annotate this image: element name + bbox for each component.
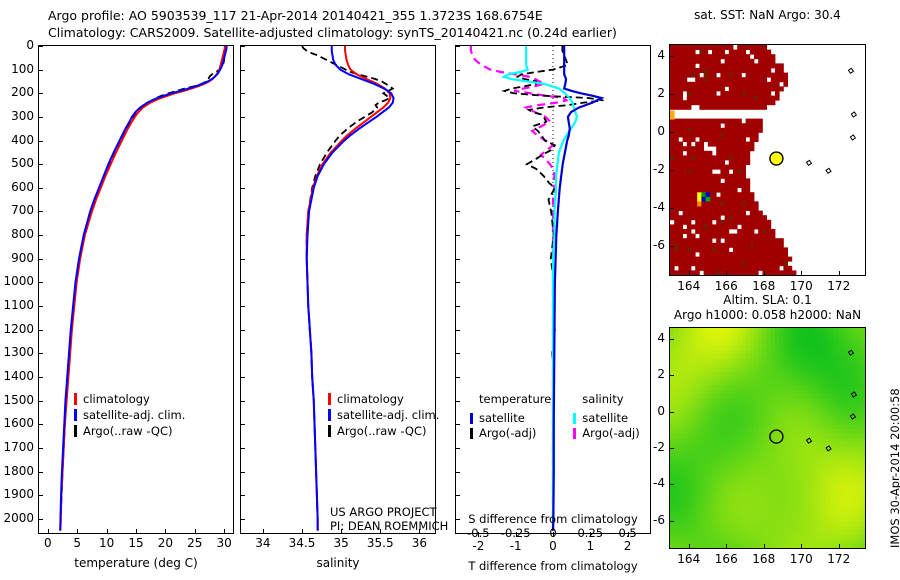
sst-cell (687, 192, 692, 197)
sla-cell (775, 328, 780, 333)
sla-cell (863, 398, 865, 403)
sst-cell (737, 151, 742, 156)
sst-cell (716, 206, 721, 211)
sla-cell (695, 442, 700, 447)
sla-cell (746, 332, 751, 337)
sla-cell (754, 368, 759, 373)
panel-temperature (38, 45, 234, 534)
coastline-fragment (848, 68, 853, 73)
sla-cell (741, 337, 746, 342)
sla-cell (783, 469, 788, 474)
sla-cell (817, 337, 822, 342)
sla-cell (817, 513, 822, 518)
sla-cell (704, 544, 709, 548)
sla-cell (737, 464, 742, 469)
sla-cell (754, 442, 759, 447)
sla-cell (838, 359, 843, 364)
sst-cell (737, 123, 742, 128)
sla-cell (846, 451, 851, 456)
sla-cell (830, 535, 835, 540)
latitude-tick-label: 4 (633, 331, 665, 345)
sla-cell (737, 473, 742, 478)
sla-cell (830, 372, 835, 377)
sst-cell (733, 165, 738, 170)
sla-cell (771, 412, 776, 417)
latitude-tick-label: -6 (633, 513, 665, 527)
sst-cell (699, 82, 704, 87)
sla-cell (804, 425, 809, 430)
sst-cell (767, 86, 772, 91)
sla-cell (846, 486, 851, 491)
sst-cell (725, 96, 730, 101)
sla-cell (809, 460, 814, 465)
sla-cell (817, 434, 822, 439)
sla-cell (704, 473, 709, 478)
sla-cell (859, 447, 864, 452)
sla-cell (859, 526, 864, 531)
sst-cell (678, 201, 683, 206)
sla-cell (670, 460, 675, 465)
sla-cell (788, 447, 793, 452)
sst-cell (704, 266, 709, 271)
sla-cell (687, 530, 692, 535)
sla-cell (691, 500, 696, 505)
sla-cell (762, 398, 767, 403)
sst-cell (737, 183, 742, 188)
sla-cell (767, 403, 772, 408)
sst-cell (687, 206, 692, 211)
sla-cell (796, 517, 801, 522)
sst-cell (737, 165, 742, 170)
sst-cell (704, 178, 709, 183)
sst-cell (683, 59, 688, 64)
sla-cell (683, 403, 688, 408)
sla-cell (821, 354, 826, 359)
sla-cell (825, 337, 830, 342)
sla-cell (767, 394, 772, 399)
sst-cell (741, 137, 746, 142)
sla-cell (821, 425, 826, 430)
sla-cell (674, 504, 679, 509)
sla-cell (800, 451, 805, 456)
sla-cell (712, 341, 717, 346)
sla-cell (775, 464, 780, 469)
sst-cell (691, 68, 696, 73)
sst-cell (674, 59, 679, 64)
sst-cell (695, 100, 700, 105)
sst-cell (704, 224, 709, 229)
sst-cell (737, 243, 742, 248)
sst-cell (746, 119, 751, 124)
sst-cell (758, 82, 763, 87)
sla-cell (678, 363, 683, 368)
sla-cell (691, 464, 696, 469)
sla-cell (750, 390, 755, 395)
sla-cell (708, 482, 713, 487)
sst-cell (683, 197, 688, 202)
depth-tick-mark (38, 117, 43, 118)
sla-cell (855, 504, 860, 509)
sla-cell (670, 500, 675, 505)
sst-cell (737, 77, 742, 82)
sst-anomaly-cell (701, 202, 706, 207)
sla-cell (821, 517, 826, 522)
sla-cell (720, 425, 725, 430)
legend-group-title: temperature (470, 392, 551, 407)
sst-cell (670, 229, 675, 234)
sla-cell (809, 328, 814, 333)
sla-cell (758, 407, 763, 412)
sst-cell (758, 100, 763, 105)
sst-cell (758, 211, 763, 216)
sla-cell (788, 425, 793, 430)
sst-cell (712, 197, 717, 202)
sla-cell (804, 508, 809, 513)
sla-cell (720, 416, 725, 421)
sla-cell (855, 394, 860, 399)
sla-cell (779, 398, 784, 403)
sla-cell (729, 539, 734, 544)
sst-cell (695, 160, 700, 165)
sst-cell (741, 192, 746, 197)
sst-cell (746, 188, 751, 193)
sla-cell (775, 368, 780, 373)
sla-cell (800, 456, 805, 461)
sla-cell (758, 478, 763, 483)
sla-cell (741, 473, 746, 478)
sst-cell (771, 247, 776, 252)
sla-cell (704, 478, 709, 483)
sla-cell (716, 354, 721, 359)
sla-cell (804, 412, 809, 417)
sla-cell (842, 425, 847, 430)
sla-cell (741, 372, 746, 377)
sla-cell (788, 495, 793, 500)
sla-cell (863, 350, 865, 355)
sst-cell (741, 169, 746, 174)
sla-cell (842, 526, 847, 531)
sst-cell (683, 206, 688, 211)
sla-cell (699, 482, 704, 487)
sst-cell (746, 201, 751, 206)
sst-cell (683, 188, 688, 193)
sla-cell (830, 368, 835, 373)
sla-cell (783, 456, 788, 461)
sst-cell (687, 188, 692, 193)
sla-cell (775, 381, 780, 386)
sla-cell (725, 425, 730, 430)
sst-cell (716, 54, 721, 59)
sla-cell (708, 332, 713, 337)
sla-cell (775, 341, 780, 346)
sla-cell (674, 332, 679, 337)
sst-cell (695, 229, 700, 234)
sla-cell (691, 513, 696, 518)
sst-cell (729, 137, 734, 142)
sst-cell (746, 82, 751, 87)
sst-cell (746, 54, 751, 59)
sla-cell (767, 469, 772, 474)
sla-cell (758, 491, 763, 496)
sla-cell (762, 425, 767, 430)
sla-cell (851, 425, 856, 430)
sst-cell (758, 243, 763, 248)
depth-tick-label: 1300 (0, 345, 34, 359)
sla-cell (733, 442, 738, 447)
sst-cell (687, 86, 692, 91)
sla-cell (804, 473, 809, 478)
sla-cell (733, 359, 738, 364)
sst-cell (683, 119, 688, 124)
sla-cell (851, 500, 856, 505)
sla-cell (851, 517, 856, 522)
sst-cell (670, 73, 675, 78)
sla-cell (838, 530, 843, 535)
sla-cell (687, 517, 692, 522)
sla-cell (758, 385, 763, 390)
sla-cell (687, 522, 692, 527)
sla-cell (842, 438, 847, 443)
sla-cell (796, 354, 801, 359)
sst-cell (767, 261, 772, 266)
sla-cell (729, 530, 734, 535)
sst-cell (750, 238, 755, 243)
sst-cell (674, 215, 679, 220)
sla-cell (863, 526, 865, 531)
sst-cell (674, 82, 679, 87)
sla-cell (800, 332, 805, 337)
sla-cell (779, 491, 784, 496)
sla-cell (779, 517, 784, 522)
sla-cell (683, 517, 688, 522)
legend-swatch-icon (74, 425, 77, 437)
sla-cell (813, 535, 818, 540)
sla-cell (741, 420, 746, 425)
sla-cell (796, 416, 801, 421)
sla-cell (800, 359, 805, 364)
sla-cell (830, 346, 835, 351)
sst-cell (695, 165, 700, 170)
sla-cell (813, 500, 818, 505)
sla-cell (712, 438, 717, 443)
sla-cell (842, 482, 847, 487)
sla-cell (704, 359, 709, 364)
sst-cell (762, 54, 767, 59)
sla-cell (825, 385, 830, 390)
sla-cell (678, 434, 683, 439)
sla-cell (729, 390, 734, 395)
sst-cell (775, 270, 780, 275)
sla-cell (725, 341, 730, 346)
sst-cell (754, 215, 759, 220)
sst-cell (704, 105, 709, 110)
sla-cell (704, 425, 709, 430)
sla-cell (720, 407, 725, 412)
sla-cell (691, 456, 696, 461)
sst-cell (704, 151, 709, 156)
sst-cell (716, 151, 721, 156)
sla-cell (825, 354, 830, 359)
sla-cell (846, 478, 851, 483)
sst-cell (712, 119, 717, 124)
sst-cell (746, 266, 751, 271)
sla-cell (855, 398, 860, 403)
sla-cell (825, 438, 830, 443)
sla-cell (838, 337, 843, 342)
sla-cell (821, 482, 826, 487)
sla-cell (813, 420, 818, 425)
sla-cell (851, 482, 856, 487)
sst-cell (733, 151, 738, 156)
sla-cell (779, 539, 784, 544)
sla-cell (741, 464, 746, 469)
sla-cell (737, 522, 742, 527)
depth-tick-mark (240, 235, 245, 236)
sla-cell (695, 429, 700, 434)
sla-cell (741, 416, 746, 421)
legend-item: satellite-adj. clim. (328, 404, 439, 420)
sst-cell (687, 224, 692, 229)
sla-cell (695, 530, 700, 535)
sla-cell (737, 456, 742, 461)
sla-cell (834, 522, 839, 527)
sla-cell (678, 346, 683, 351)
sla-cell (783, 517, 788, 522)
sla-cell (712, 486, 717, 491)
sla-cell (842, 456, 847, 461)
sla-cell (687, 354, 692, 359)
sla-cell (716, 530, 721, 535)
sla-cell (678, 495, 683, 500)
sla-cell (762, 376, 767, 381)
sst-cell (720, 197, 725, 202)
sst-cell (716, 270, 721, 275)
sla-cell (834, 469, 839, 474)
sla-cell (863, 460, 865, 465)
sla-cell (729, 425, 734, 430)
sla-cell (830, 544, 835, 548)
sla-cell (788, 464, 793, 469)
sla-cell (741, 460, 746, 465)
sla-cell (758, 451, 763, 456)
sla-cell (821, 429, 826, 434)
sla-cell (775, 500, 780, 505)
sla-cell (813, 425, 818, 430)
sla-cell (825, 332, 830, 337)
depth-tick-mark (38, 282, 43, 283)
depth-tick-mark (38, 401, 43, 402)
sst-cell (754, 247, 759, 252)
sst-cell (754, 201, 759, 206)
sla-cell (779, 403, 784, 408)
sla-cell (733, 350, 738, 355)
sla-cell (750, 513, 755, 518)
sst-cell (704, 82, 709, 87)
sst-cell (729, 183, 734, 188)
sla-cell (851, 544, 856, 548)
sst-cell (691, 45, 696, 50)
sla-cell (813, 328, 818, 333)
sla-cell (834, 407, 839, 412)
sla-cell (746, 535, 751, 540)
sla-cell (792, 420, 797, 425)
depth-tick-mark (240, 46, 245, 47)
sla-cell (775, 522, 780, 527)
sst-cell (670, 201, 675, 206)
sla-cell (725, 482, 730, 487)
sst-cell (737, 155, 742, 160)
sla-cell (830, 434, 835, 439)
sst-cell (699, 68, 704, 73)
sla-cell (695, 407, 700, 412)
sla-cell (809, 456, 814, 461)
sla-cell (838, 398, 843, 403)
longitude-tick-mark (689, 271, 690, 276)
sla-cell (716, 451, 721, 456)
sla-cell (720, 346, 725, 351)
sla-cell (863, 381, 865, 386)
sst-cell (762, 91, 767, 96)
sst-cell (720, 77, 725, 82)
sla-cell (863, 385, 865, 390)
sla-cell (687, 438, 692, 443)
sla-cell (695, 332, 700, 337)
sst-cell (733, 183, 738, 188)
sla-cell (725, 500, 730, 505)
sla-cell (834, 504, 839, 509)
sla-cell (809, 522, 814, 527)
sla-cell (809, 376, 814, 381)
sla-cell (737, 508, 742, 513)
sst-cell (746, 183, 751, 188)
sla-cell (783, 420, 788, 425)
sst-cell (758, 50, 763, 55)
sla-cell (704, 407, 709, 412)
sst-cell (758, 257, 763, 262)
sla-cell (746, 544, 751, 548)
sla-cell (716, 469, 721, 474)
sla-cell (708, 478, 713, 483)
sla-cell (733, 486, 738, 491)
sla-cell (712, 337, 717, 342)
sla-cell (788, 368, 793, 373)
sla-cell (792, 535, 797, 540)
sla-cell (725, 469, 730, 474)
sla-cell (851, 526, 856, 531)
sla-cell (817, 363, 822, 368)
legend-label: Argo(..raw -QC) (337, 424, 427, 438)
sla-cell (821, 522, 826, 527)
sla-cell (704, 469, 709, 474)
sla-cell (813, 486, 818, 491)
sst-cell (725, 155, 730, 160)
sst-cell (750, 266, 755, 271)
sst-cell (767, 234, 772, 239)
sla-cell (834, 429, 839, 434)
sla-cell (741, 517, 746, 522)
sst-cell (695, 132, 700, 137)
sla-cell (716, 522, 721, 527)
sla-cell (695, 425, 700, 430)
sst-cell (699, 224, 704, 229)
sst-cell (691, 151, 696, 156)
sla-cell (695, 381, 700, 386)
sla-cell (737, 491, 742, 496)
sla-cell (771, 539, 776, 544)
sst-cell (720, 165, 725, 170)
sla-cell (725, 337, 730, 342)
sla-cell (830, 517, 835, 522)
